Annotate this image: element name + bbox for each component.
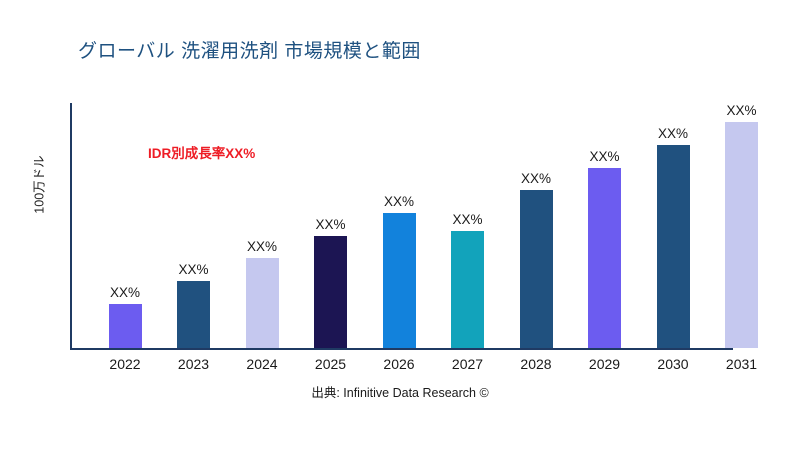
x-axis-tick-2028: 2028: [502, 349, 570, 372]
x-axis-tick-2026: 2026: [365, 349, 433, 372]
bar-group-2023[interactable]: XX%: [160, 263, 228, 349]
bar-2024[interactable]: [246, 258, 279, 348]
bar-2027[interactable]: [451, 231, 484, 348]
bar-2022[interactable]: [109, 304, 142, 348]
bar-group-2027[interactable]: XX%: [434, 213, 502, 349]
x-axis-tick-2024: 2024: [228, 349, 296, 372]
bar-value-label: XX%: [110, 286, 140, 300]
source-caption: 出典: Infinitive Data Research ©: [0, 382, 800, 401]
bar-group-2025[interactable]: XX%: [297, 218, 365, 349]
bar-2025[interactable]: [314, 236, 347, 348]
x-axis-tick-2030: 2030: [639, 349, 707, 372]
bar-value-label: XX%: [384, 195, 414, 209]
x-axis-tick-2022: 2022: [91, 349, 159, 372]
x-axis-tick-2031: 2031: [708, 349, 776, 372]
bar-value-label: XX%: [247, 240, 277, 254]
bar-group-2031[interactable]: XX%: [708, 104, 776, 349]
bar-value-label: XX%: [178, 263, 208, 277]
bar-group-2026[interactable]: XX%: [365, 195, 433, 349]
bar-2030[interactable]: [657, 145, 690, 348]
x-axis-tick-2025: 2025: [297, 349, 365, 372]
bar-2026[interactable]: [383, 213, 416, 348]
bar-group-2024[interactable]: XX%: [228, 240, 296, 349]
chart-container: グローバル 洗濯用洗剤 市場規模と範囲 100万ドル IDR別成長率XX% XX…: [0, 0, 800, 450]
bar-value-label: XX%: [589, 150, 619, 164]
bar-2029[interactable]: [588, 168, 621, 348]
bar-value-label: XX%: [315, 218, 345, 232]
bar-value-label: XX%: [726, 104, 756, 118]
bar-group-2028[interactable]: XX%: [502, 172, 570, 349]
bar-2031[interactable]: [725, 122, 758, 348]
x-axis-tick-2023: 2023: [160, 349, 228, 372]
bar-group-2022[interactable]: XX%: [91, 286, 159, 349]
bar-2028[interactable]: [520, 190, 553, 348]
bar-value-label: XX%: [452, 213, 482, 227]
bar-value-label: XX%: [521, 172, 551, 186]
x-axis-tick-2027: 2027: [434, 349, 502, 372]
x-axis-tick-2029: 2029: [571, 349, 639, 372]
bar-2023[interactable]: [177, 281, 210, 348]
bar-value-label: XX%: [658, 127, 688, 141]
bar-group-2029[interactable]: XX%: [571, 150, 639, 349]
bar-group-2030[interactable]: XX%: [639, 127, 707, 349]
